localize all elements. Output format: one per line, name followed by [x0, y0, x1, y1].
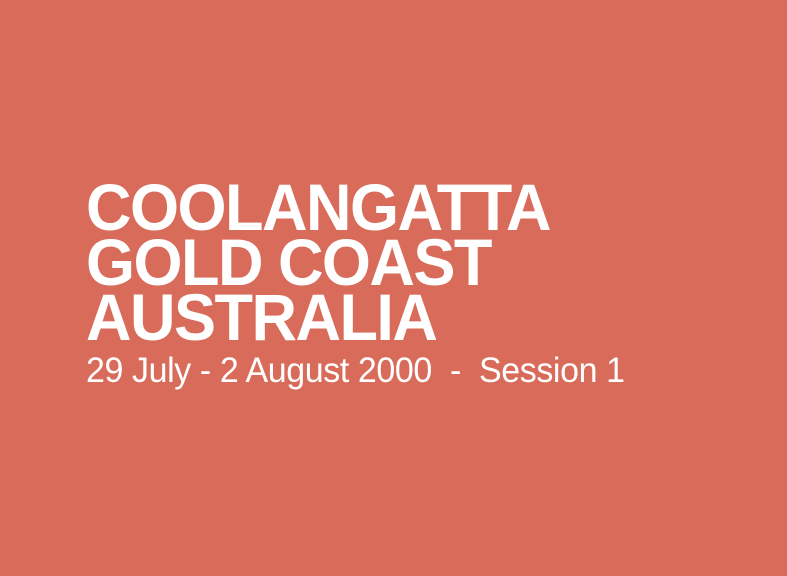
- title-line-3: AUSTRALIA: [86, 290, 716, 345]
- title-block: COOLANGATTA GOLD COAST AUSTRALIA 29 July…: [86, 180, 746, 397]
- title-slide: COOLANGATTA GOLD COAST AUSTRALIA 29 July…: [0, 0, 787, 576]
- subtitle-date-session: 29 July - 2 August 2000 - Session 1: [86, 345, 726, 397]
